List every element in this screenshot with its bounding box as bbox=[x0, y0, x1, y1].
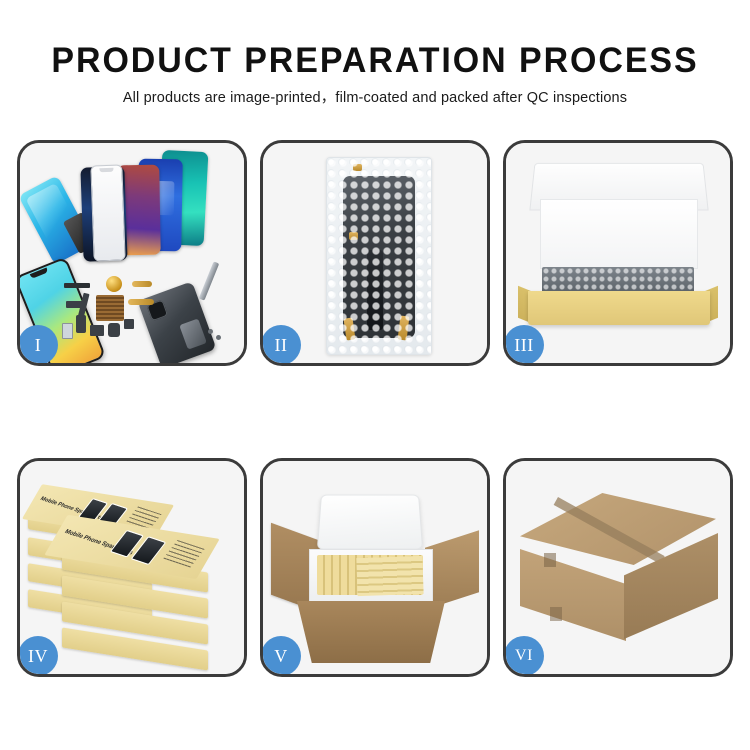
foam-sheet-graphic bbox=[540, 199, 698, 269]
step-badge-6: VI bbox=[504, 636, 544, 676]
carton-front-graphic bbox=[297, 601, 445, 663]
logic-board-graphic bbox=[96, 295, 124, 321]
step-badge-1: I bbox=[18, 325, 58, 365]
part-camera-graphic bbox=[90, 325, 104, 336]
step-card-5[interactable]: V bbox=[260, 458, 490, 677]
screen-protector-graphic bbox=[90, 164, 125, 261]
product-preparation-infographic: PRODUCT PREPARATION PROCESS All products… bbox=[0, 0, 750, 750]
sim-tray-graphic bbox=[62, 323, 73, 339]
step-image-5 bbox=[263, 461, 487, 674]
part-speaker-graphic bbox=[108, 323, 120, 337]
taptic-coil-graphic bbox=[106, 276, 122, 292]
packed-boxes-2-graphic bbox=[356, 556, 423, 596]
step-image-6 bbox=[506, 461, 730, 674]
page-title: PRODUCT PREPARATION PROCESS bbox=[11, 40, 739, 82]
part-button-graphic bbox=[124, 319, 134, 329]
tape-tab-mid-graphic bbox=[349, 232, 358, 240]
step-badge-4: IV bbox=[18, 636, 58, 676]
step-card-3[interactable]: III bbox=[503, 140, 733, 366]
page-subtitle: All products are image-printed，film-coat… bbox=[0, 88, 750, 108]
screen-flex-graphic bbox=[367, 250, 383, 330]
box-front-panel-graphic bbox=[528, 291, 710, 325]
flex-cable-graphic bbox=[132, 281, 152, 287]
step-image-3 bbox=[506, 143, 730, 363]
step-badge-5: V bbox=[261, 636, 301, 676]
tape-tab-top-graphic bbox=[353, 164, 362, 171]
foam-lid-graphic bbox=[317, 495, 423, 550]
box-spec-lines-front bbox=[162, 540, 205, 569]
carton-seam-bottom-graphic bbox=[550, 607, 562, 621]
step-image-2 bbox=[263, 143, 487, 363]
header: PRODUCT PREPARATION PROCESS All products… bbox=[0, 40, 750, 108]
screw-2-graphic bbox=[216, 335, 221, 340]
step-card-4[interactable]: Mobile Phone Spare Parts Mobile Phone Sp… bbox=[17, 458, 247, 677]
step-card-2[interactable]: II bbox=[260, 140, 490, 366]
steps-grid: I II bbox=[17, 140, 733, 677]
part-strip-graphic bbox=[64, 283, 90, 288]
step-card-1[interactable]: I bbox=[17, 140, 247, 366]
bubble-wrap-layer-graphic bbox=[542, 267, 694, 293]
screwdriver-graphic bbox=[199, 261, 220, 300]
screw-graphic bbox=[208, 329, 213, 334]
step-image-1 bbox=[20, 143, 244, 363]
carton-flap-right-graphic bbox=[425, 530, 479, 610]
flex-cable-2-graphic bbox=[128, 299, 154, 305]
step-badge-2: II bbox=[261, 325, 301, 365]
step-badge-3: III bbox=[504, 325, 544, 365]
carton-face-left-graphic bbox=[520, 549, 626, 641]
step-card-6[interactable]: VI bbox=[503, 458, 733, 677]
bubble-bag-graphic bbox=[326, 157, 432, 355]
box-stack-graphic: Mobile Phone Spare Parts Mobile Phone Sp… bbox=[26, 469, 244, 675]
step-image-4: Mobile Phone Spare Parts Mobile Phone Sp… bbox=[20, 461, 244, 674]
carton-seam-top-graphic bbox=[544, 553, 556, 567]
